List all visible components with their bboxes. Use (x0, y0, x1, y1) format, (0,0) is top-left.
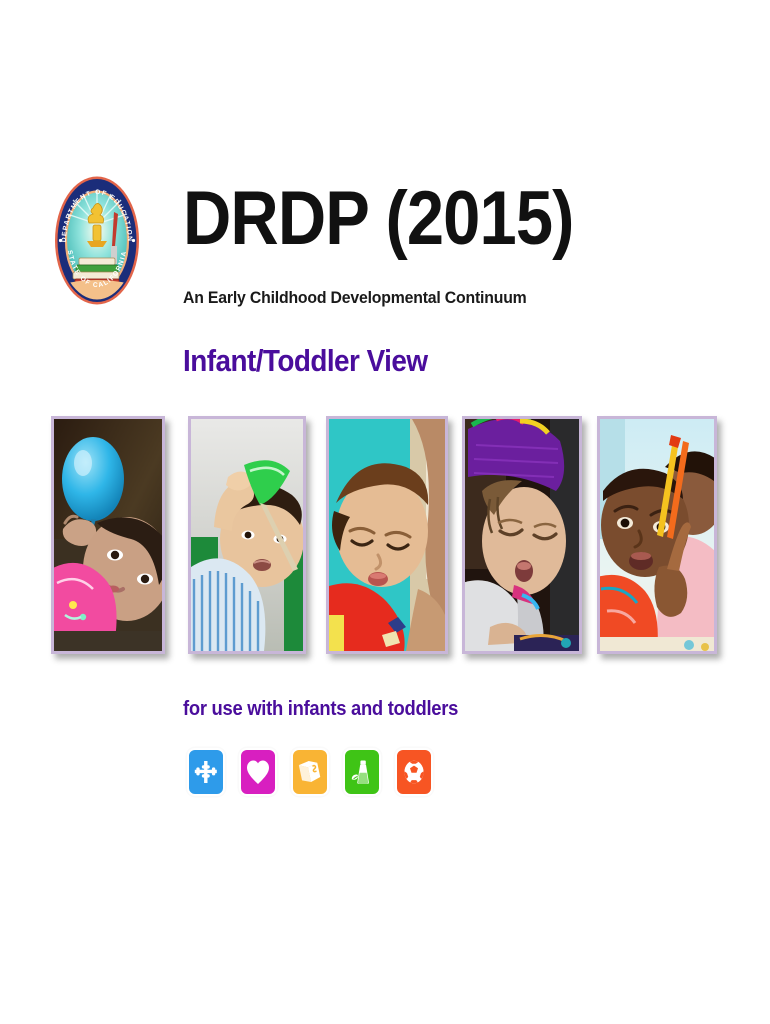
cover-page: DEPARTMENT OF EDUCATION STATE OF CALIFOR… (0, 0, 770, 1024)
page-subtitle: An Early Childhood Developmental Continu… (183, 288, 527, 308)
photo-strip (0, 416, 770, 661)
page-title: DRDP (2015) (183, 176, 574, 262)
domain-icon-row (187, 748, 433, 796)
cognition-math-science-icon[interactable] (343, 748, 381, 796)
social-emotional-development-icon[interactable] (239, 748, 277, 796)
photo-child-with-paintbrushes (597, 416, 717, 654)
photo-child-in-purple-knit-hat (462, 416, 582, 654)
california-department-of-education-seal: DEPARTMENT OF EDUCATION STATE OF CALIFOR… (53, 172, 141, 309)
cover-header: DEPARTMENT OF EDUCATION STATE OF CALIFOR… (0, 0, 770, 400)
physical-development-health-icon[interactable] (395, 748, 433, 796)
language-literacy-development-icon[interactable] (291, 748, 329, 796)
usage-note: for use with infants and toddlers (183, 698, 458, 721)
approaches-to-learning-icon[interactable] (187, 748, 225, 796)
photo-infant-with-blue-balloon (51, 416, 165, 654)
photo-baby-in-red-shirt (326, 416, 448, 654)
view-label: Infant/Toddler View (183, 343, 427, 379)
photo-toddler-with-green-funnel (188, 416, 306, 654)
